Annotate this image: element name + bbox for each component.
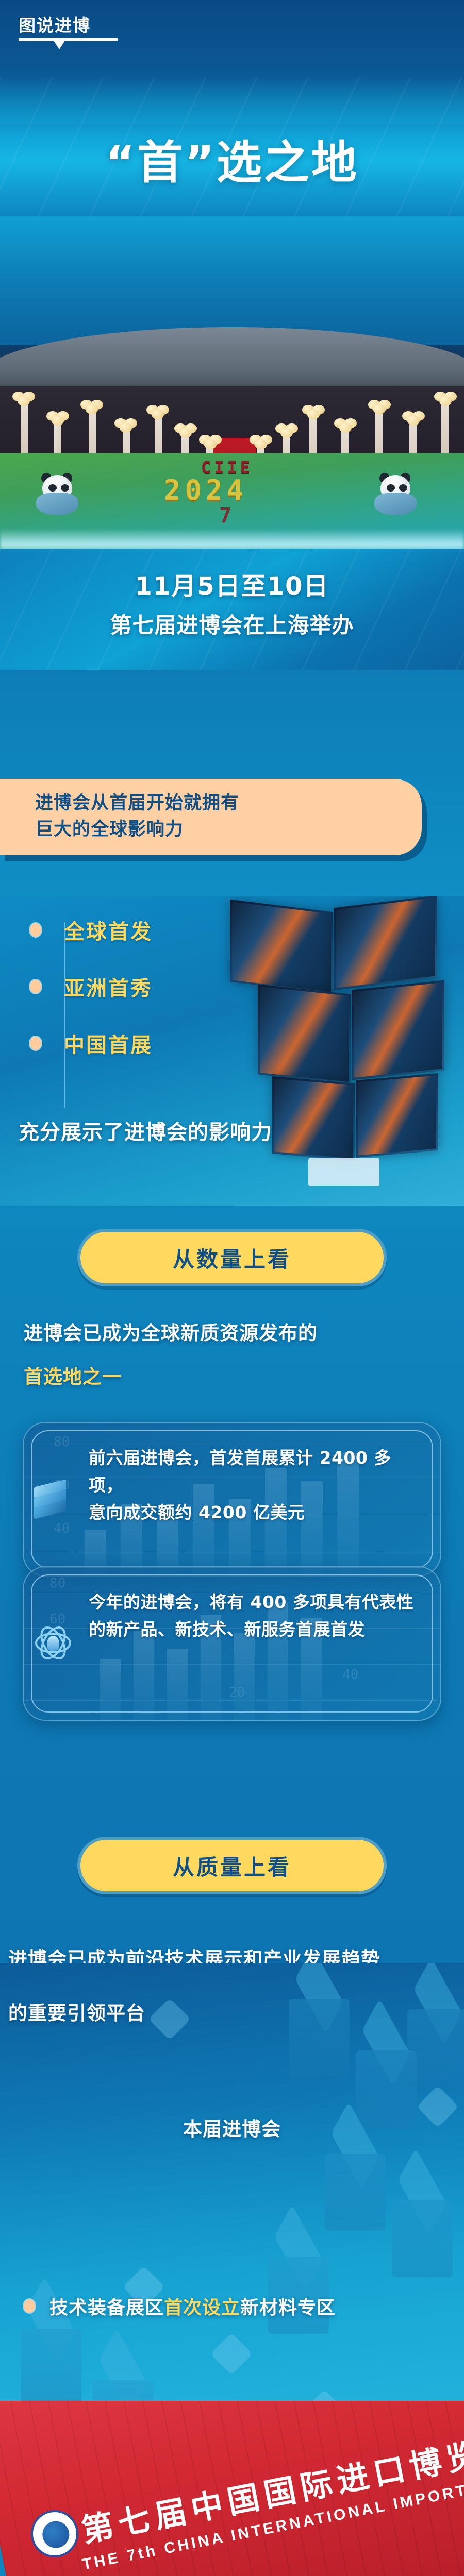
influence-footnote: 充分展示了进博会的影响力 (19, 1117, 272, 1148)
influence-banner: 进博会从首届开始就拥有 巨大的全球影响力 (0, 779, 422, 855)
data-card-this-year-line-1: 今年的进博会，将有 400 多项具有代表性 (89, 1589, 421, 1616)
data-card-cumulative-text: 前六届进博会，首发首展累计 2400 多项， 意向成交额约 4200 亿美元 (23, 1422, 441, 1549)
date-block: 11月5日至10日 第七届进博会在上海举办 (0, 566, 464, 639)
quality-bullet-1-text: 技术装备展区首次设立新材料专区 (49, 2293, 336, 2319)
date-line-2: 第七届进博会在上海举办 (0, 608, 464, 639)
series-tag-underline (19, 38, 118, 41)
mascot-left (30, 472, 88, 517)
list-item-label: 全球首发 (64, 915, 153, 945)
quality-bullet-1: 技术装备展区首次设立新材料专区 (23, 2293, 336, 2319)
page-title: “首”选之地 (0, 126, 464, 192)
infographic-page: 图说进博 “首”选之地 (0, 0, 464, 2576)
bullet-dot-icon (23, 2298, 36, 2314)
influence-banner-line-1: 进博会从首届开始就拥有 (35, 790, 239, 817)
series-tag-label: 图说进博 (19, 16, 118, 35)
quality-bullet-1-highlight: 首次设立 (164, 2297, 240, 2318)
quantity-lead-line-1: 进博会已成为全球新质资源发布的 (24, 1319, 318, 1348)
quantity-lead-line-2: 首选地之一 (24, 1363, 122, 1392)
date-line-1: 11月5日至10日 (0, 566, 464, 602)
series-tag: 图说进博 (19, 16, 118, 41)
lawn-edition-number: 7 (219, 504, 231, 528)
influence-banner-line-2: 巨大的全球影响力 (35, 817, 239, 843)
sky (0, 216, 464, 345)
bullet-dot-icon (29, 979, 42, 994)
section-heading-quantity: 从数量上看 (77, 1229, 387, 1286)
data-card-this-year-line-2: 的新产品、新技术、新服务首展首发 (89, 1616, 421, 1643)
list-item-label: 亚洲首秀 (64, 972, 153, 1002)
section-heading-quantity-label: 从数量上看 (173, 1242, 291, 1274)
media-center-sign (308, 1158, 379, 1186)
list-item-label: 中国首展 (64, 1028, 153, 1058)
section-heading-quality: 从质量上看 (77, 1837, 387, 1894)
isometric-cubes-background (0, 1963, 464, 2458)
list-item: 全球首发 (29, 915, 153, 945)
data-card-cumulative-line-1: 前六届进博会，首发首展累计 2400 多项， (89, 1445, 421, 1499)
bullet-dot-icon (29, 922, 42, 938)
influence-bullet-list: 全球首发 亚洲首秀 中国首展 (29, 915, 153, 1085)
quality-lead-line-2: 的重要引领平台 (8, 1999, 145, 2028)
mascot-right (368, 472, 426, 517)
list-item: 中国首展 (29, 1028, 153, 1058)
data-card-cumulative-line-2: 意向成交额约 4200 亿美元 (89, 1499, 421, 1527)
lawn-year-text: 2024 (164, 474, 247, 506)
list-item: 亚洲首秀 (29, 972, 153, 1002)
bullet-dot-icon (29, 1036, 42, 1051)
quality-subheading: 本届进博会 (0, 2115, 464, 2144)
data-card-this-year: 80 60 40 20 今年的进博会，将有 400 多项具有代表性 的新产品、新… (23, 1566, 441, 1721)
section-heading-quality-label: 从质量上看 (173, 1850, 291, 1882)
influence-banner-text: 进博会从首届开始就拥有 巨大的全球影响力 (0, 779, 255, 855)
quality-bullet-1-pre: 技术装备展区 (49, 2297, 164, 2318)
data-card-cumulative: 80 60 40 前六届进博会，首发首展累计 2400 多项， 意向成交额约 4… (23, 1422, 441, 1577)
expo-red-banner-photo: 第七届中国国际进口博览会 THE 7th CHINA INTERNATIONAL… (0, 2401, 464, 2576)
ciie-lawn-photo: CIIE 2024 7 (0, 453, 464, 551)
lawn-glow (0, 529, 464, 551)
quality-bullet-1-post: 新材料专区 (240, 2297, 336, 2318)
data-card-this-year-text: 今年的进博会，将有 400 多项具有代表性 的新产品、新技术、新服务首展首发 (23, 1566, 441, 1666)
